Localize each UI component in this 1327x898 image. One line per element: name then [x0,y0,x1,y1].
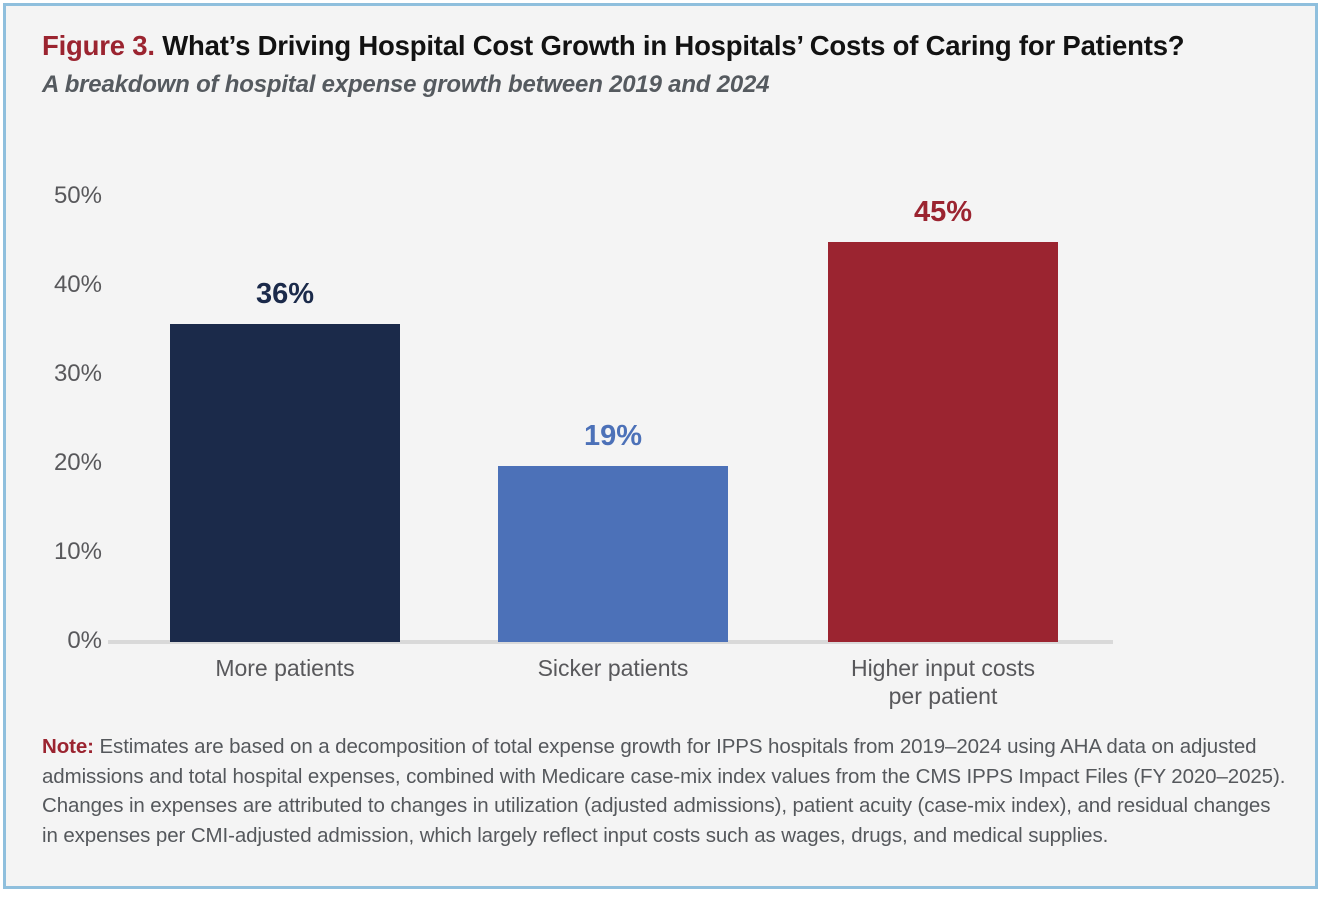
bar-value-label: 19% [498,420,728,453]
bar-1[interactable] [170,324,400,642]
note-block: Note: Estimates are based on a decomposi… [42,732,1290,851]
bar-3[interactable] [828,242,1058,643]
bar-value-label: 45% [828,196,1058,229]
x-axis-category-line: Sicker patients [458,654,768,682]
x-axis-category-label: More patients [130,654,440,682]
x-axis-category-label: Higher input costsper patient [788,654,1098,710]
bar-value-label: 36% [170,278,400,311]
x-axis-category-line: per patient [788,682,1098,710]
x-axis-category-line: More patients [130,654,440,682]
note-text: Estimates are based on a decomposition o… [42,735,1285,847]
bar-2[interactable] [498,466,728,642]
figure-card: Figure 3. What’s Driving Hospital Cost G… [3,3,1318,889]
x-axis-category-label: Sicker patients [458,654,768,682]
x-axis-category-line: Higher input costs [788,654,1098,682]
note-label: Note: [42,735,94,758]
bars-layer [6,6,1321,642]
